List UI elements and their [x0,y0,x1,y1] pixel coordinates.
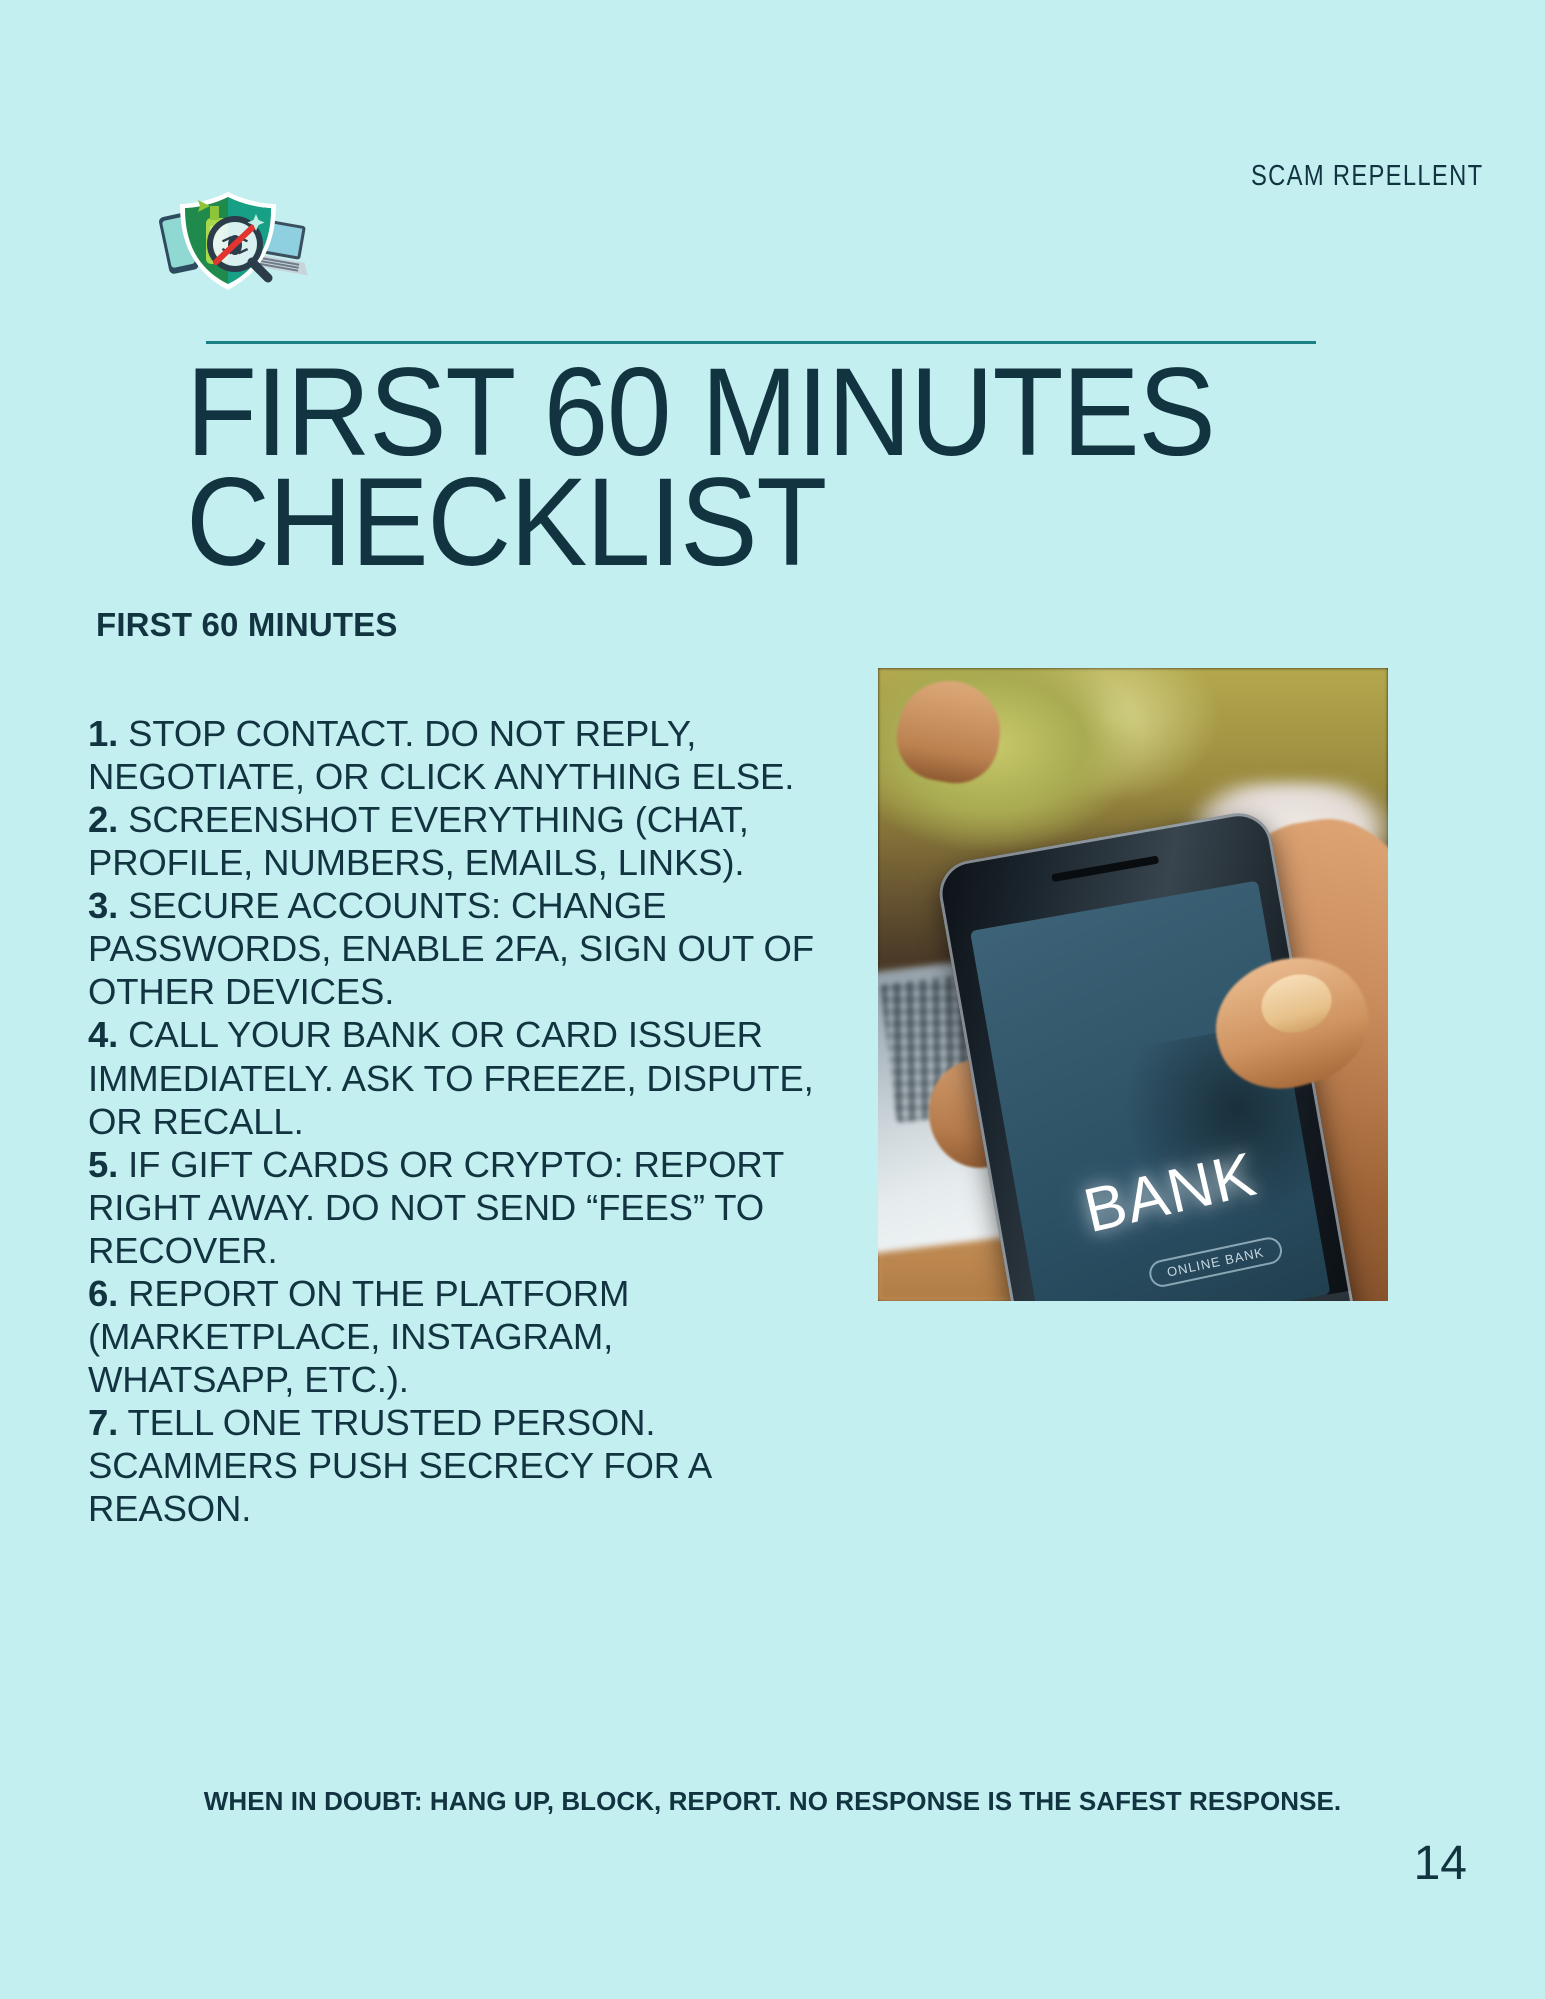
brand-label: SCAM REPELLENT [1251,160,1483,193]
list-item: 3. SECURE ACCOUNTS: CHANGE PASSWORDS, EN… [88,884,818,1013]
section-subtitle: FIRST 60 MINUTES [96,606,398,644]
list-item-number: 4. [88,1014,118,1055]
page-number: 14 [1414,1836,1467,1891]
list-item-number: 1. [88,713,118,754]
list-item-number: 6. [88,1273,118,1314]
page-title: FIRST 60 MINUTES CHECKLIST [186,358,1302,578]
list-item: 1. STOP CONTACT. DO NOT REPLY, NEGOTIATE… [88,712,818,798]
list-item-number: 7. [88,1402,118,1443]
list-item: 6. REPORT ON THE PLATFORM (MARKETPLACE, … [88,1272,818,1401]
list-item: 4. CALL YOUR BANK OR CARD ISSUER IMMEDIA… [88,1013,818,1142]
list-item-text: REPORT ON THE PLATFORM (MARKETPLACE, INS… [88,1273,629,1400]
list-item-text: SCREENSHOT EVERYTHING (CHAT, PROFILE, NU… [88,799,749,883]
list-item-text: STOP CONTACT. DO NOT REPLY, NEGOTIATE, O… [88,713,794,797]
list-item: 5. IF GIFT CARDS OR CRYPTO: REPORT RIGHT… [88,1143,818,1272]
footer-note: WHEN IN DOUBT: HANG UP, BLOCK, REPORT. N… [0,1786,1545,1817]
list-item-number: 5. [88,1144,118,1185]
shield-magnifier-devices-logo [150,182,315,297]
list-item: 2. SCREENSHOT EVERYTHING (CHAT, PROFILE,… [88,798,818,884]
list-item: 7. TELL ONE TRUSTED PERSON. SCAMMERS PUS… [88,1401,818,1530]
page-title-line-2: CHECKLIST [186,468,1302,578]
list-item-number: 2. [88,799,118,840]
list-item-text: IF GIFT CARDS OR CRYPTO: REPORT RIGHT AW… [88,1144,783,1271]
list-item-text: SECURE ACCOUNTS: CHANGE PASSWORDS, ENABL… [88,885,814,1012]
list-item-number: 3. [88,885,118,926]
hand-holding-phone-bank-screen-photo: BANK ONLINE BANK [878,668,1388,1301]
checklist: 1. STOP CONTACT. DO NOT REPLY, NEGOTIATE… [88,712,818,1530]
list-item-text: CALL YOUR BANK OR CARD ISSUER IMMEDIATEL… [88,1014,814,1141]
list-item-text: TELL ONE TRUSTED PERSON. SCAMMERS PUSH S… [88,1402,710,1529]
